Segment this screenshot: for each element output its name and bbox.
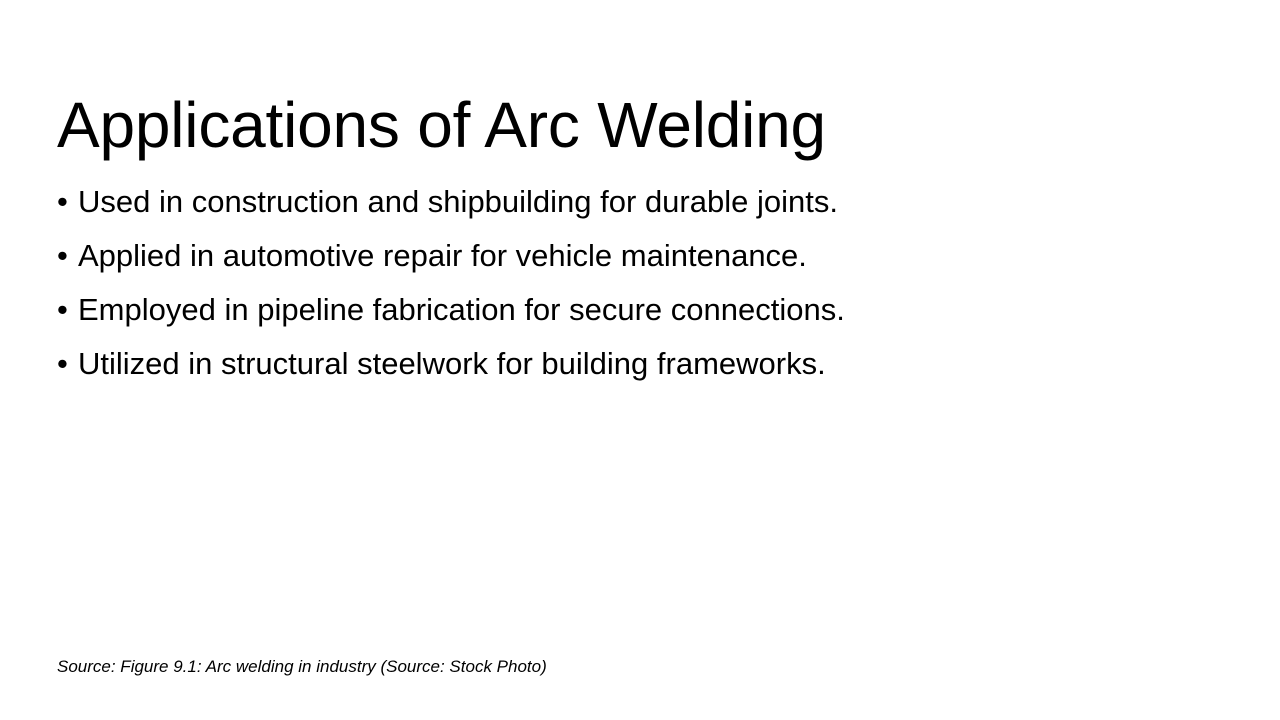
- list-item: • Utilized in structural steelwork for b…: [57, 348, 1217, 402]
- bullet-list: • Used in construction and shipbuilding …: [57, 186, 1217, 402]
- bullet-point-icon: •: [57, 348, 78, 379]
- list-item-label: Utilized in structural steelwork for bui…: [78, 348, 826, 379]
- list-item-label: Applied in automotive repair for vehicle…: [78, 240, 807, 271]
- slide-canvas: Applications of Arc Welding • Used in co…: [0, 0, 1280, 720]
- list-item: • Applied in automotive repair for vehic…: [57, 240, 1217, 294]
- list-item: • Used in construction and shipbuilding …: [57, 186, 1217, 240]
- source-caption: Source: Figure 9.1: Arc welding in indus…: [57, 657, 547, 677]
- list-item-label: Employed in pipeline fabrication for sec…: [78, 294, 845, 325]
- list-item-label: Used in construction and shipbuilding fo…: [78, 186, 838, 217]
- bullet-point-icon: •: [57, 186, 78, 217]
- page-title: Applications of Arc Welding: [57, 93, 1217, 157]
- bullet-point-icon: •: [57, 240, 78, 271]
- bullet-point-icon: •: [57, 294, 78, 325]
- list-item: • Employed in pipeline fabrication for s…: [57, 294, 1217, 348]
